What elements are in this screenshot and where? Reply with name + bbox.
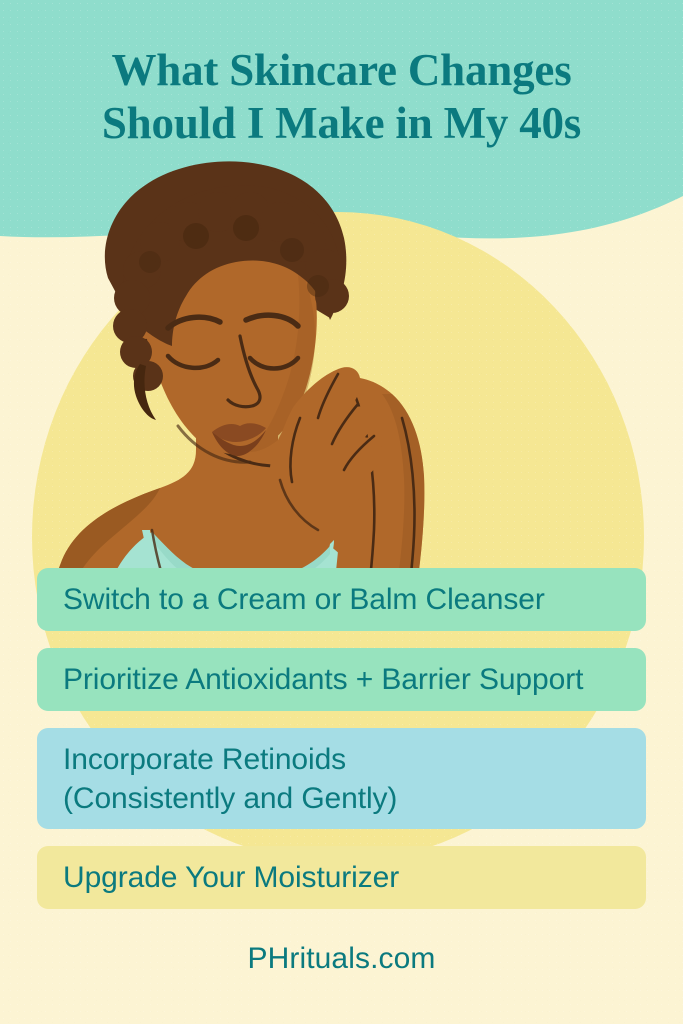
tip-label: Upgrade Your Moisturizer — [63, 858, 620, 897]
tip-label: Prioritize Antioxidants + Barrier Suppor… — [63, 660, 620, 699]
page-title: What Skincare Changes Should I Make in M… — [0, 44, 683, 150]
title-line-1: What Skincare Changes — [0, 44, 683, 97]
tip-antioxidants-barrier[interactable]: Prioritize Antioxidants + Barrier Suppor… — [37, 648, 646, 711]
tips-list: Switch to a Cream or Balm Cleanser Prior… — [37, 568, 646, 909]
tip-label-line-2: (Consistently and Gently) — [63, 779, 620, 818]
title-line-2: Should I Make in My 40s — [0, 97, 683, 150]
woman-illustration — [0, 150, 683, 620]
tip-moisturizer[interactable]: Upgrade Your Moisturizer — [37, 846, 646, 909]
footer: PHrituals.com — [0, 942, 683, 976]
infographic-poster: What Skincare Changes Should I Make in M… — [0, 0, 683, 1024]
tip-cream-balm-cleanser[interactable]: Switch to a Cream or Balm Cleanser — [37, 568, 646, 631]
website-label[interactable]: PHrituals.com — [247, 942, 435, 975]
tip-label-line-1: Incorporate Retinoids — [63, 740, 620, 779]
tip-label: Switch to a Cream or Balm Cleanser — [63, 580, 620, 619]
tip-retinoids[interactable]: Incorporate Retinoids (Consistently and … — [37, 728, 646, 829]
